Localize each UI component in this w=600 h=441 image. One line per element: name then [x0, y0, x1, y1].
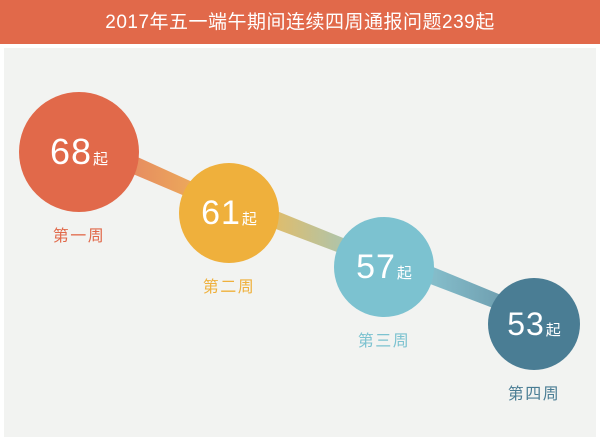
node-value-week-1: 68 起	[50, 134, 108, 170]
node-number-week-2: 61	[201, 196, 241, 230]
chart-canvas: 68 起 第一周 61 起 第二周 57 起 第三周 53 起	[4, 48, 596, 437]
data-node-week-1[interactable]: 68 起	[19, 92, 139, 212]
node-number-week-3: 57	[356, 250, 396, 284]
week-label-week-4: 第四周	[488, 387, 580, 403]
node-value-week-3: 57 起	[356, 250, 412, 284]
node-value-week-4: 53 起	[507, 308, 561, 340]
node-value-week-2: 61 起	[201, 196, 257, 230]
title-banner: 2017年五一端午期间连续四周通报问题239起	[0, 0, 600, 44]
data-node-week-4[interactable]: 53 起	[488, 278, 580, 370]
week-label-week-2: 第二周	[179, 280, 279, 296]
node-number-week-1: 68	[50, 134, 92, 170]
week-label-week-3: 第三周	[334, 334, 434, 350]
node-unit-week-3: 起	[397, 266, 412, 281]
node-unit-week-2: 起	[242, 212, 257, 227]
week-label-week-1: 第一周	[19, 229, 139, 245]
node-unit-week-1: 起	[93, 152, 108, 167]
data-node-week-3[interactable]: 57 起	[334, 217, 434, 317]
page-title: 2017年五一端午期间连续四周通报问题239起	[105, 13, 494, 32]
node-number-week-4: 53	[507, 308, 545, 340]
infographic-root: 2017年五一端午期间连续四周通报问题239起	[0, 0, 600, 441]
data-node-week-2[interactable]: 61 起	[179, 163, 279, 263]
node-unit-week-4: 起	[546, 323, 561, 338]
